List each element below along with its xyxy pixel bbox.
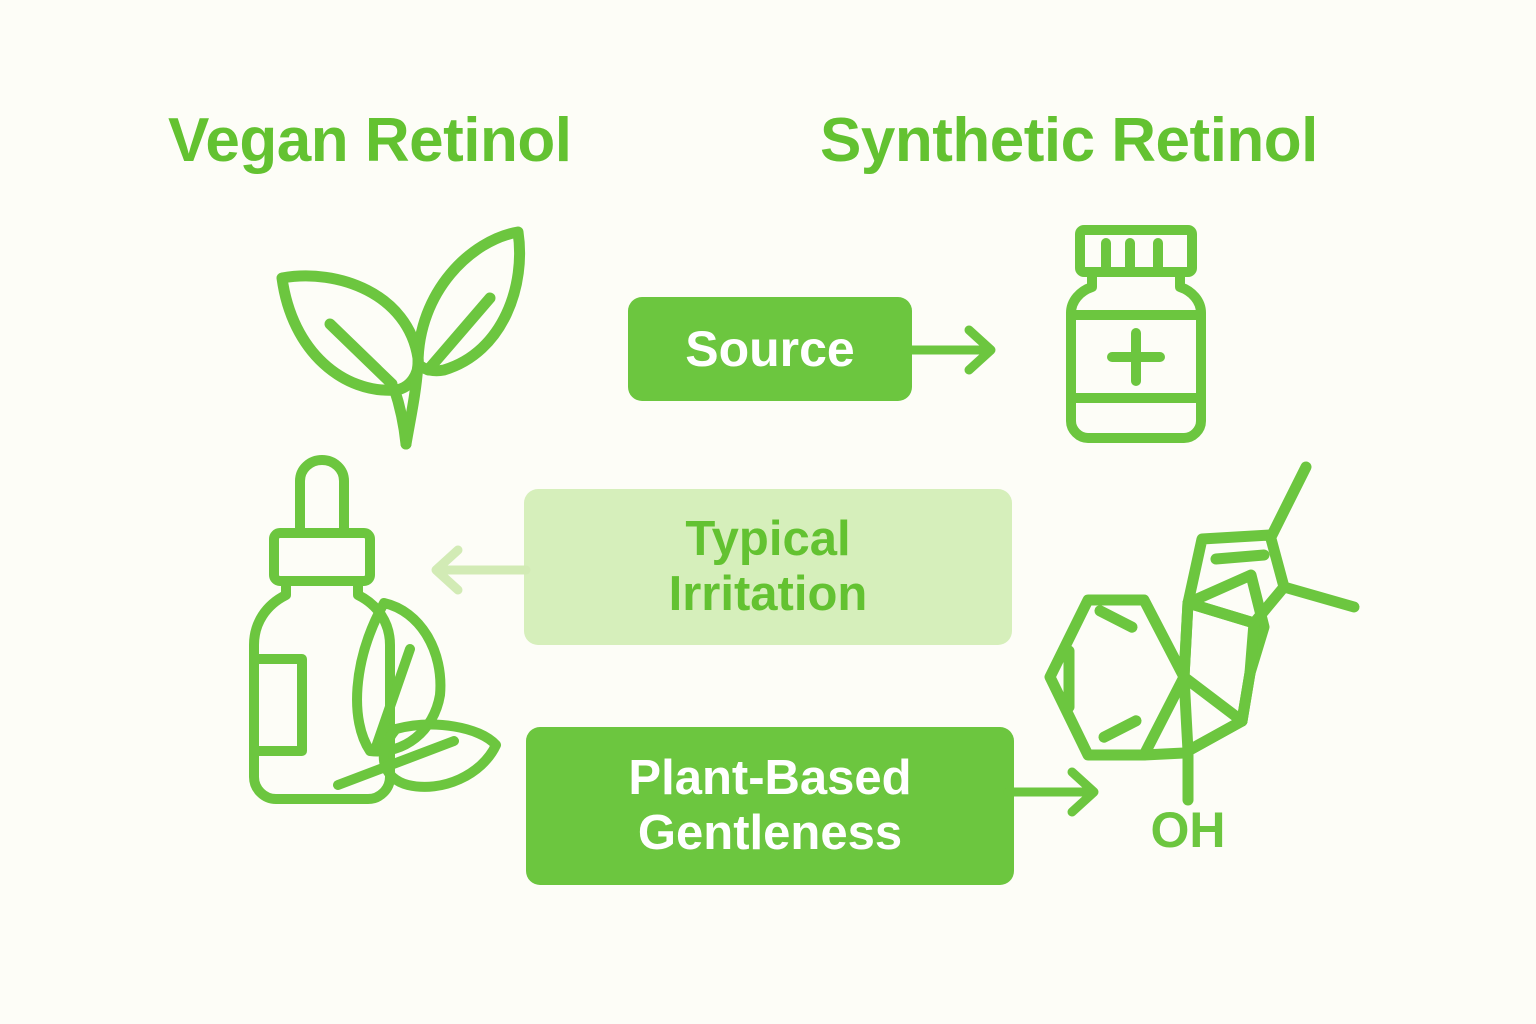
- leaf-sprout-icon: [268, 222, 536, 464]
- dropper-bottle-leaf-icon: [244, 455, 506, 810]
- arrow-left-typical-irritation: [420, 538, 530, 602]
- page-title-right: Synthetic Retinol: [820, 110, 1318, 172]
- label-line-2: Irritation: [669, 567, 868, 621]
- label-box-plant-based-gentleness[interactable]: Plant-Based Gentleness: [526, 727, 1014, 885]
- arrow-right-source: [905, 318, 1005, 382]
- label-box-source[interactable]: Source: [628, 297, 912, 401]
- infographic-canvas: Vegan Retinol Synthetic Retinol Source: [0, 0, 1536, 1024]
- label-box-source-text: Source: [685, 321, 855, 377]
- label-line-2: Gentleness: [638, 806, 902, 860]
- molecule-oh-label: OH: [1151, 802, 1226, 858]
- label-line-1: Plant-Based: [628, 751, 911, 805]
- pill-bottle-icon: [1062, 225, 1210, 443]
- label-box-plant-based-gentleness-text: Plant-Based Gentleness: [628, 751, 911, 861]
- label-box-typical-irritation[interactable]: Typical Irritation: [524, 489, 1012, 645]
- arrow-right-plant-based-gentleness: [1008, 760, 1108, 824]
- label-box-typical-irritation-text: Typical Irritation: [669, 512, 868, 622]
- page-title-left: Vegan Retinol: [168, 110, 571, 172]
- label-line-1: Typical: [685, 512, 850, 566]
